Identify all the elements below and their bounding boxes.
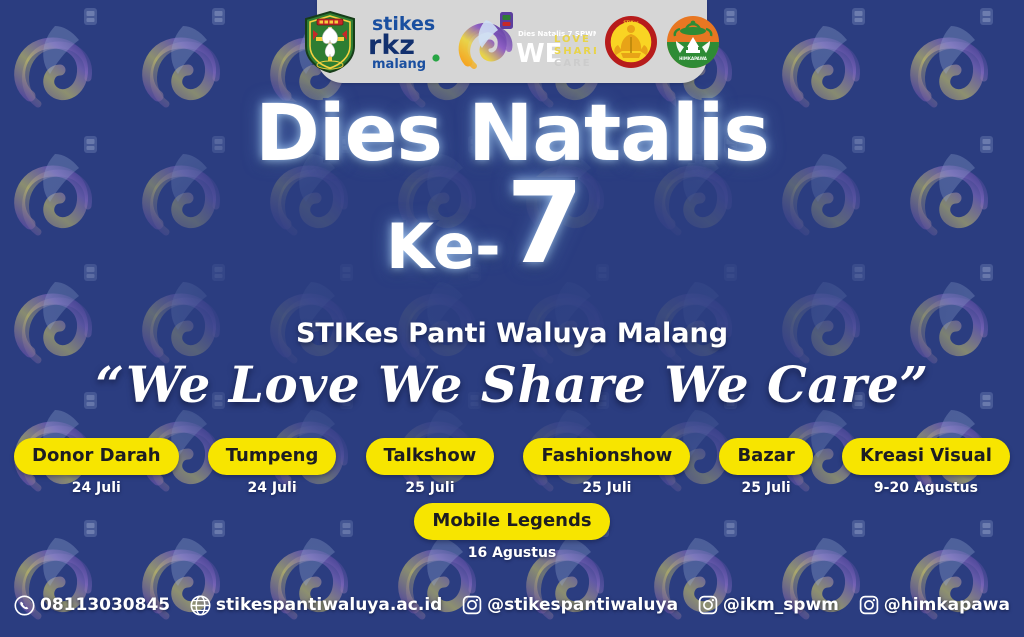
svg-text:LOVE: LOVE <box>554 34 591 45</box>
red-gold-circular-emblem-logo: STIKes <box>604 15 658 69</box>
instagram-icon <box>698 595 718 615</box>
stikes-rkz-crest-logo <box>304 10 356 74</box>
event-item[interactable]: Bazar 25 Juli <box>719 438 812 496</box>
event-label[interactable]: Fashionshow <box>523 438 690 475</box>
svg-text:malang: malang <box>372 57 426 72</box>
we-love-share-care-swirl-logo: Dies Natalis 7 SPWM WE LOVE SHARE CARE <box>456 10 596 74</box>
event-label[interactable]: Tumpeng <box>208 438 337 475</box>
event-item[interactable]: Talkshow 25 Juli <box>366 438 495 496</box>
poster-root: stikes rkz malang Dies Natalis 7 SPWM <box>0 0 1024 637</box>
event-item[interactable]: Tumpeng 24 Juli <box>208 438 337 496</box>
header-logo-bar: stikes rkz malang Dies Natalis 7 SPWM <box>317 0 707 83</box>
green-orange-circular-emblem-logo: HIMKAPAWA <box>666 15 720 69</box>
event-label[interactable]: Talkshow <box>366 438 495 475</box>
contact-website[interactable]: stikespantiwaluya.ac.id <box>190 595 442 616</box>
event-date: 24 Juli <box>72 480 121 496</box>
stikes-rkz-malang-wordmark-logo: stikes rkz malang <box>364 11 448 73</box>
svg-text:SHARE: SHARE <box>554 46 596 57</box>
tagline: “We Love We Share We Care” <box>0 355 1024 414</box>
globe-icon <box>190 595 211 616</box>
edition-number-group: 7 Ke- <box>0 168 1024 296</box>
event-date: 16 Agustus <box>468 545 557 561</box>
event-date: 9-20 Agustus <box>874 480 978 496</box>
contact-website-text: stikespantiwaluya.ac.id <box>216 595 442 615</box>
svg-text:STIKes: STIKes <box>623 20 639 25</box>
edition-number: 7 <box>506 168 584 280</box>
event-item[interactable]: Kreasi Visual 9-20 Agustus <box>842 438 1010 496</box>
event-date: 24 Juli <box>247 480 296 496</box>
event-label[interactable]: Mobile Legends <box>414 503 609 540</box>
contact-instagram-ikm-spwm[interactable]: @ikm_spwm <box>698 595 839 615</box>
event-label[interactable]: Bazar <box>719 438 812 475</box>
contact-instagram-text: @himkapawa <box>884 595 1010 615</box>
events-row-secondary: Mobile Legends 16 Agustus <box>0 503 1024 561</box>
instagram-icon <box>859 595 879 615</box>
contact-instagram-stikespantiwaluya[interactable]: @stikespantiwaluya <box>462 595 678 615</box>
institution-name: STIKes Panti Waluya Malang <box>0 318 1024 349</box>
contact-instagram-himkapawa[interactable]: @himkapawa <box>859 595 1010 615</box>
event-item[interactable]: Mobile Legends 16 Agustus <box>414 503 609 561</box>
phone-icon <box>14 595 35 616</box>
edition-prefix: Ke- <box>386 216 501 278</box>
instagram-icon <box>462 595 482 615</box>
event-date: 25 Juli <box>582 480 631 496</box>
events-row-primary: Donor Darah 24 Juli Tumpeng 24 Juli Talk… <box>0 438 1024 496</box>
event-date: 25 Juli <box>742 480 791 496</box>
event-item[interactable]: Donor Darah 24 Juli <box>14 438 179 496</box>
event-date: 25 Juli <box>405 480 454 496</box>
contact-phone-text: 08113030845 <box>40 595 170 615</box>
title-block: Dies Natalis 7 Ke- <box>0 96 1024 296</box>
svg-text:CARE: CARE <box>554 58 592 69</box>
contact-instagram-text: @ikm_spwm <box>723 595 839 615</box>
event-label[interactable]: Donor Darah <box>14 438 179 475</box>
footer-contact-bar: 08113030845 stikespantiwaluya.ac.id @sti… <box>0 581 1024 637</box>
svg-text:HIMKAPAWA: HIMKAPAWA <box>679 56 708 61</box>
contact-phone[interactable]: 08113030845 <box>14 595 170 616</box>
contact-instagram-text: @stikespantiwaluya <box>487 595 678 615</box>
event-label[interactable]: Kreasi Visual <box>842 438 1010 475</box>
event-item[interactable]: Fashionshow 25 Juli <box>523 438 690 496</box>
